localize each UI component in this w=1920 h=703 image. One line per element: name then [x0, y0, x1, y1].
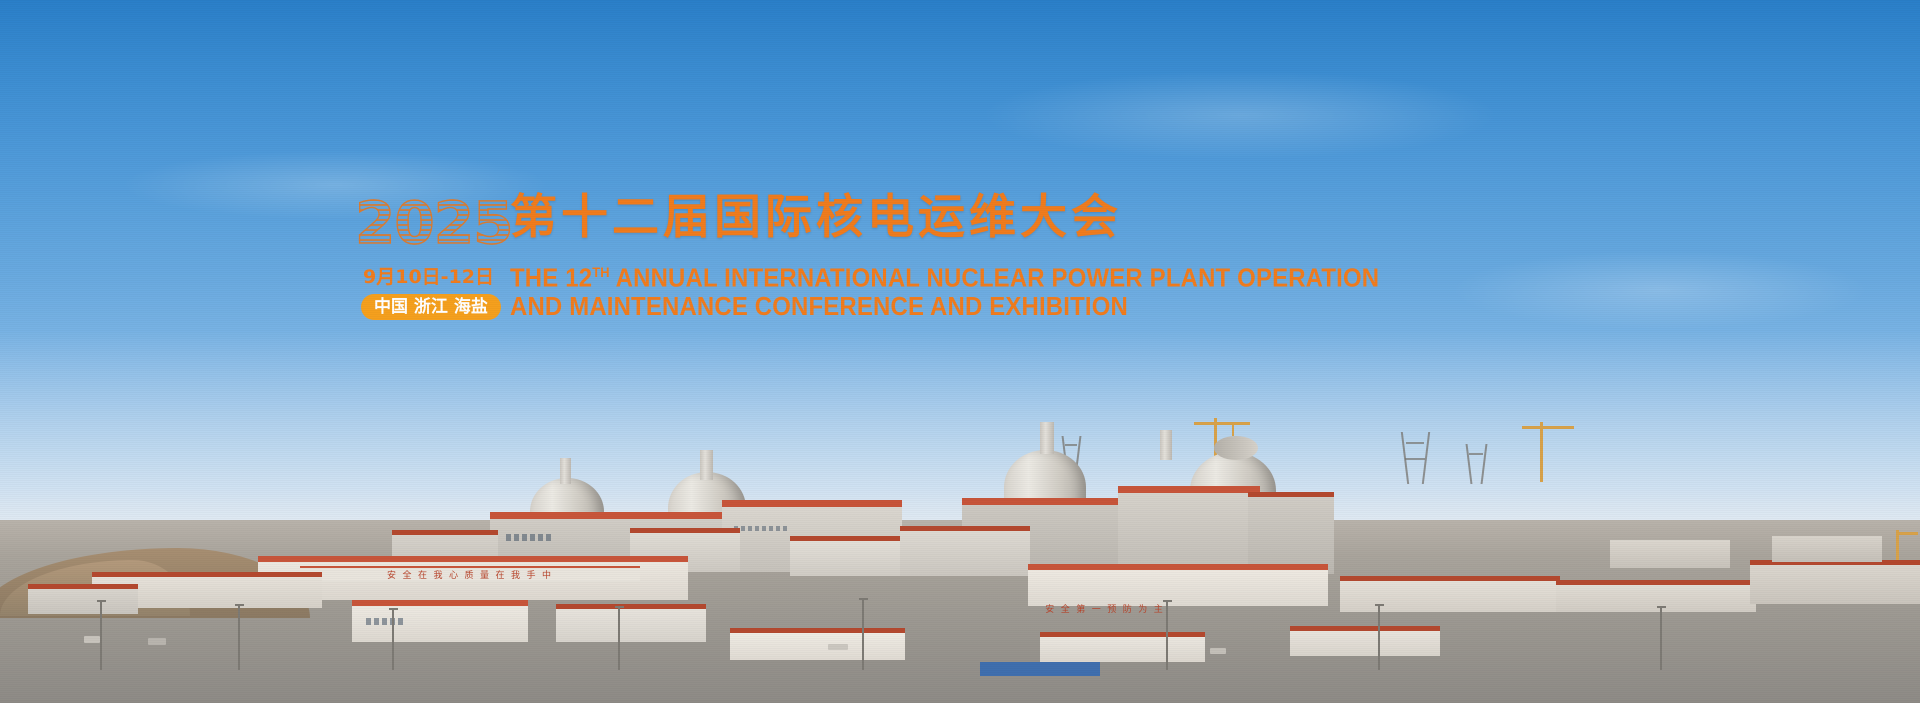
tower-crane — [1510, 422, 1576, 482]
support-building — [900, 526, 1030, 576]
gatehouse — [352, 600, 528, 642]
street-lamp — [238, 604, 240, 670]
subtitle-remainder: ANNUAL INTERNATIONAL NUCLEAR POWER PLANT… — [610, 263, 1380, 293]
title-lockup: 2025 第十二届国际核电运维大会 9月10日-12日 THE 12TH ANN… — [355, 192, 1275, 324]
conference-subtitle-english-line-1: THE 12TH ANNUAL INTERNATIONAL NUCLEAR PO… — [510, 259, 1379, 291]
street-lamp — [392, 608, 394, 670]
wall-slogan-right: 安 全 第 一 预 防 为 主 — [1000, 602, 1210, 617]
low-rise-building — [1556, 580, 1756, 612]
site-office-row — [730, 628, 905, 660]
warehouse — [556, 604, 706, 642]
warehouse — [1750, 560, 1920, 604]
low-rise-building — [1340, 576, 1560, 612]
conference-hero-banner: 安 全 在 我 心 质 量 在 我 手 中 安 全 第 一 预 防 — [0, 0, 1920, 703]
parked-vehicle — [1210, 648, 1226, 654]
subtitle-prefix: THE 12 — [510, 263, 592, 293]
transmission-pylon — [1404, 432, 1426, 484]
distant-building — [1610, 540, 1730, 568]
street-lamp — [1166, 600, 1168, 670]
long-office-wing-right — [1028, 564, 1328, 606]
year-2025: 2025 — [355, 194, 512, 252]
reactor-vent-stack — [1160, 430, 1172, 460]
reactor-service-block — [1248, 492, 1334, 574]
title-row: 2025 第十二届国际核电运维大会 — [355, 192, 1275, 254]
support-building — [790, 536, 910, 576]
distant-building — [1772, 536, 1882, 562]
site-office-row — [1040, 632, 1205, 662]
reactor-dome-cap — [1214, 436, 1258, 460]
reactor-vent-stack — [700, 450, 713, 480]
blue-container-row — [980, 662, 1100, 676]
cloud-wisp — [980, 70, 1500, 160]
site-office-row — [1290, 626, 1440, 656]
cloud-wisp — [1450, 250, 1870, 330]
wall-slogan-left: 安 全 在 我 心 质 量 在 我 手 中 — [300, 566, 640, 581]
transmission-pylon — [1468, 444, 1484, 484]
parked-vehicle — [148, 638, 166, 645]
conference-date: 9月10日-12日 — [363, 262, 494, 289]
date-and-subtitle-row-1: 9月10日-12日 THE 12TH ANNUAL INTERNATIONAL … — [355, 260, 1275, 286]
turbine-hall — [1118, 486, 1260, 574]
parked-vehicle — [828, 644, 848, 650]
low-rise-building — [28, 584, 138, 614]
conference-subtitle-english-line-2: AND MAINTENANCE CONFERENCE AND EXHIBITIO… — [510, 293, 1128, 319]
street-lamp — [1660, 606, 1662, 670]
street-lamp — [862, 598, 864, 670]
reactor-vent-stack — [560, 458, 571, 484]
ordinal-suffix: TH — [592, 264, 610, 280]
street-lamp — [1378, 604, 1380, 670]
reactor-vent-stack — [1040, 422, 1054, 454]
location-and-subtitle-row-2: 中国 浙江 海盐 AND MAINTENANCE CONFERENCE AND … — [355, 294, 1275, 324]
street-lamp — [100, 600, 102, 670]
location-badge: 中国 浙江 海盐 — [361, 294, 501, 320]
street-lamp — [618, 606, 620, 670]
conference-title-chinese: 第十二届国际核电运维大会 — [510, 192, 1122, 244]
parked-vehicle — [84, 636, 100, 643]
